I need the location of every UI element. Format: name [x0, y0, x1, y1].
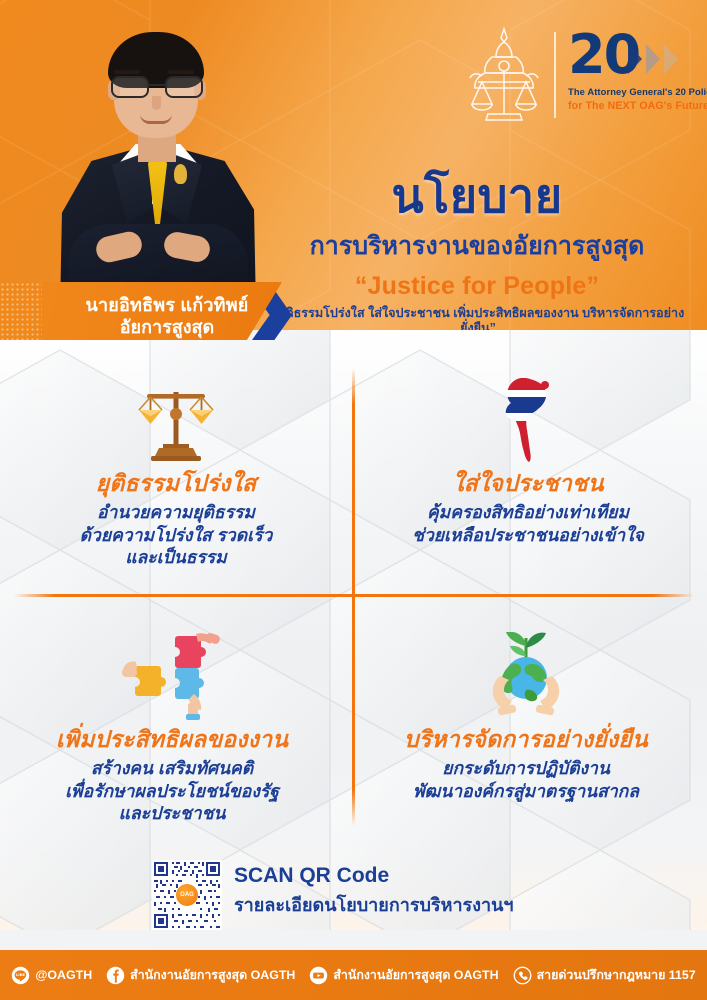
- policy-4-title: บริหารจัดการอย่างยั่งยืน: [356, 726, 696, 752]
- qr-title: SCAN QR Code: [234, 864, 389, 888]
- facebook-icon: [106, 966, 125, 985]
- policy-card-4: บริหารจัดการอย่างยั่งยืน ยกระดับการปฏิบั…: [356, 628, 696, 802]
- policy-card-1: ยุติธรรมโปร่งใส อำนวยความยุติธรรมด้วยควา…: [6, 372, 346, 569]
- glasses-lens-left: [111, 76, 149, 98]
- footer-item-hotline[interactable]: สายด่วนปรึกษากฎหมาย 1157: [513, 966, 696, 985]
- portrait-nose: [152, 96, 161, 110]
- policy-3-title: เพิ่มประสิทธิผลของงาน: [2, 726, 342, 752]
- policy-card-2: ใส่ใจประชาชน คุ้มครองสิทธิอย่างเท่าเทียม…: [358, 372, 698, 546]
- policy-1-icon-wrap: [6, 372, 346, 464]
- footer-label-youtube: สำนักงานอัยการสูงสุด OAGTH: [333, 966, 498, 985]
- logo-text-block: 20 The Attorney General's 20 Policies fo…: [568, 26, 686, 126]
- page-title-english: “Justice for People”: [262, 272, 692, 301]
- logo-tagline-2: for The NEXT OAG's Future: [568, 100, 707, 112]
- policy-3-icon-wrap: [2, 628, 342, 720]
- youtube-icon: [309, 966, 328, 985]
- oag-20-logo: 20 The Attorney General's 20 Policies fo…: [458, 26, 686, 126]
- policy-4-desc: ยกระดับการปฏิบัติงานพัฒนาองค์กรสู่มาตรฐา…: [356, 757, 696, 802]
- footer-label-hotline: สายด่วนปรึกษากฎหมาย 1157: [537, 966, 696, 985]
- footer-item-youtube[interactable]: สำนักงานอัยการสูงสุด OAGTH: [309, 966, 498, 985]
- hotline-phone-icon: [513, 966, 532, 985]
- divider-horizontal: [14, 594, 694, 597]
- qr-center-logo-icon: OAG: [176, 884, 198, 906]
- policy-1-title: ยุติธรรมโปร่งใส: [6, 470, 346, 496]
- hands-earth-plant-icon: [476, 632, 576, 720]
- policy-1-desc: อำนวยความยุติธรรมด้วยความโปร่งใส รวดเร็ว…: [6, 501, 346, 568]
- policy-2-icon-wrap: [358, 372, 698, 464]
- policy-4-icon-wrap: [356, 628, 696, 720]
- portrait-glasses: [109, 76, 205, 98]
- scales-of-justice-icon: [133, 378, 219, 464]
- footer-label-line: @OAGTH: [35, 968, 92, 982]
- svg-text:LINE: LINE: [16, 972, 26, 976]
- footer-label-facebook: สำนักงานอัยการสูงสุด OAGTH: [130, 966, 295, 985]
- footer-item-facebook[interactable]: สำนักงานอัยการสูงสุด OAGTH: [106, 966, 295, 985]
- poster-root: 20 The Attorney General's 20 Policies fo…: [0, 0, 707, 1000]
- portrait-lapel-pin: [174, 164, 187, 184]
- glasses-bridge: [149, 84, 165, 86]
- thailand-map-flag-icon: [493, 376, 563, 464]
- policy-2-desc: คุ้มครองสิทธิอย่างเท่าเทียมช่วยเหลือประช…: [358, 501, 698, 546]
- oag-crown-scales-emblem-icon: [458, 26, 550, 124]
- attorney-general-position: อัยการสูงสุด: [62, 312, 272, 341]
- policy-card-3: เพิ่มประสิทธิผลของงาน สร้างคน เสริมทัศนค…: [2, 628, 342, 825]
- portrait-brow-left: [114, 70, 140, 74]
- policy-2-title: ใส่ใจประชาชน: [358, 470, 698, 496]
- page-title: นโยบาย: [262, 172, 692, 221]
- glasses-lens-right: [165, 76, 203, 98]
- portrait-brow-right: [168, 70, 194, 74]
- logo-divider: [554, 32, 556, 118]
- policy-3-desc: สร้างคน เสริมทัศนคติเพื่อรักษาผลประโยชน์…: [2, 757, 342, 824]
- banner-dot-texture: [0, 282, 42, 340]
- portrait-mouth: [140, 114, 172, 124]
- portrait-attorney-general: [52, 36, 262, 308]
- chevron-arrows-icon: [628, 42, 690, 76]
- qr-subtitle: รายละเอียดนโยบายการบริหารงานฯ: [234, 890, 514, 919]
- line-icon: LINE: [11, 966, 30, 985]
- divider-vertical: [352, 368, 355, 826]
- footer-item-line[interactable]: LINE @OAGTH: [11, 966, 92, 985]
- page-subtitle: การบริหารงานของอัยการสูงสุด: [262, 232, 692, 260]
- logo-tagline-1: The Attorney General's 20 Policies: [568, 86, 707, 97]
- footer-bar: LINE @OAGTH สำนักงานอัยการสูงสุด OAGTH ส…: [0, 950, 707, 1000]
- puzzle-hands-icon: [122, 632, 222, 720]
